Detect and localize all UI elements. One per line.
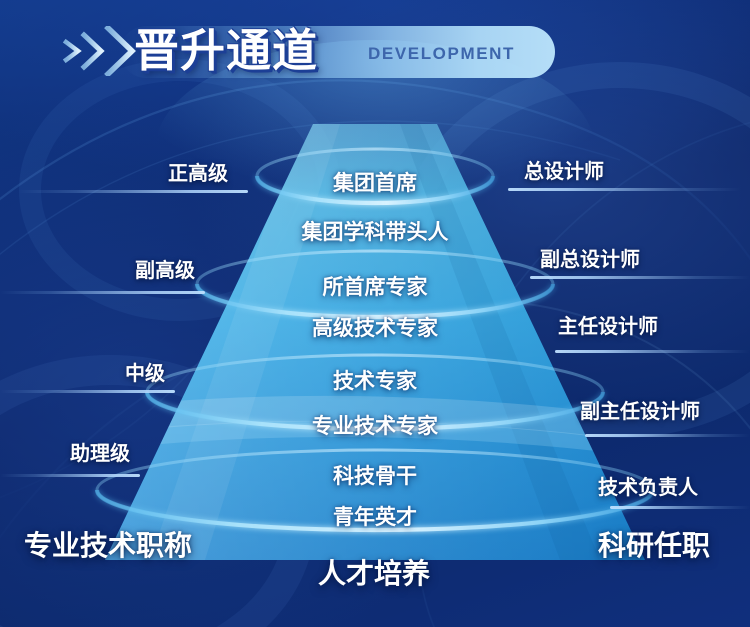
- tier-label-3: 所首席专家: [0, 271, 750, 301]
- tier-label-7: 科技骨干: [0, 460, 750, 490]
- divider-right-3: [555, 350, 750, 353]
- tier-label-6: 专业技术专家: [0, 410, 750, 440]
- right-label-2: 副总设计师: [540, 243, 640, 272]
- caption-left: 专业技术职称: [24, 524, 192, 564]
- page-title-english: DEVELOPMENT: [368, 44, 515, 64]
- header-banner: 晋升通道 DEVELOPMENT: [0, 0, 750, 100]
- double-chevron-right-icon: [62, 26, 144, 76]
- tier-label-4: 高级技术专家: [0, 312, 750, 342]
- tier-label-5: 技术专家: [0, 365, 750, 395]
- tier-label-1: 集团首席: [0, 167, 750, 197]
- promotion-path-infographic: 晋升通道 DEVELOPMENT 正高级 副高级 中级 助理级 总设计师 副总设…: [0, 0, 750, 627]
- page-title: 晋升通道: [134, 20, 318, 82]
- tier-label-2: 集团学科带头人: [0, 216, 750, 246]
- caption-right: 科研任职: [598, 524, 710, 564]
- caption-center: 人才培养: [318, 552, 430, 592]
